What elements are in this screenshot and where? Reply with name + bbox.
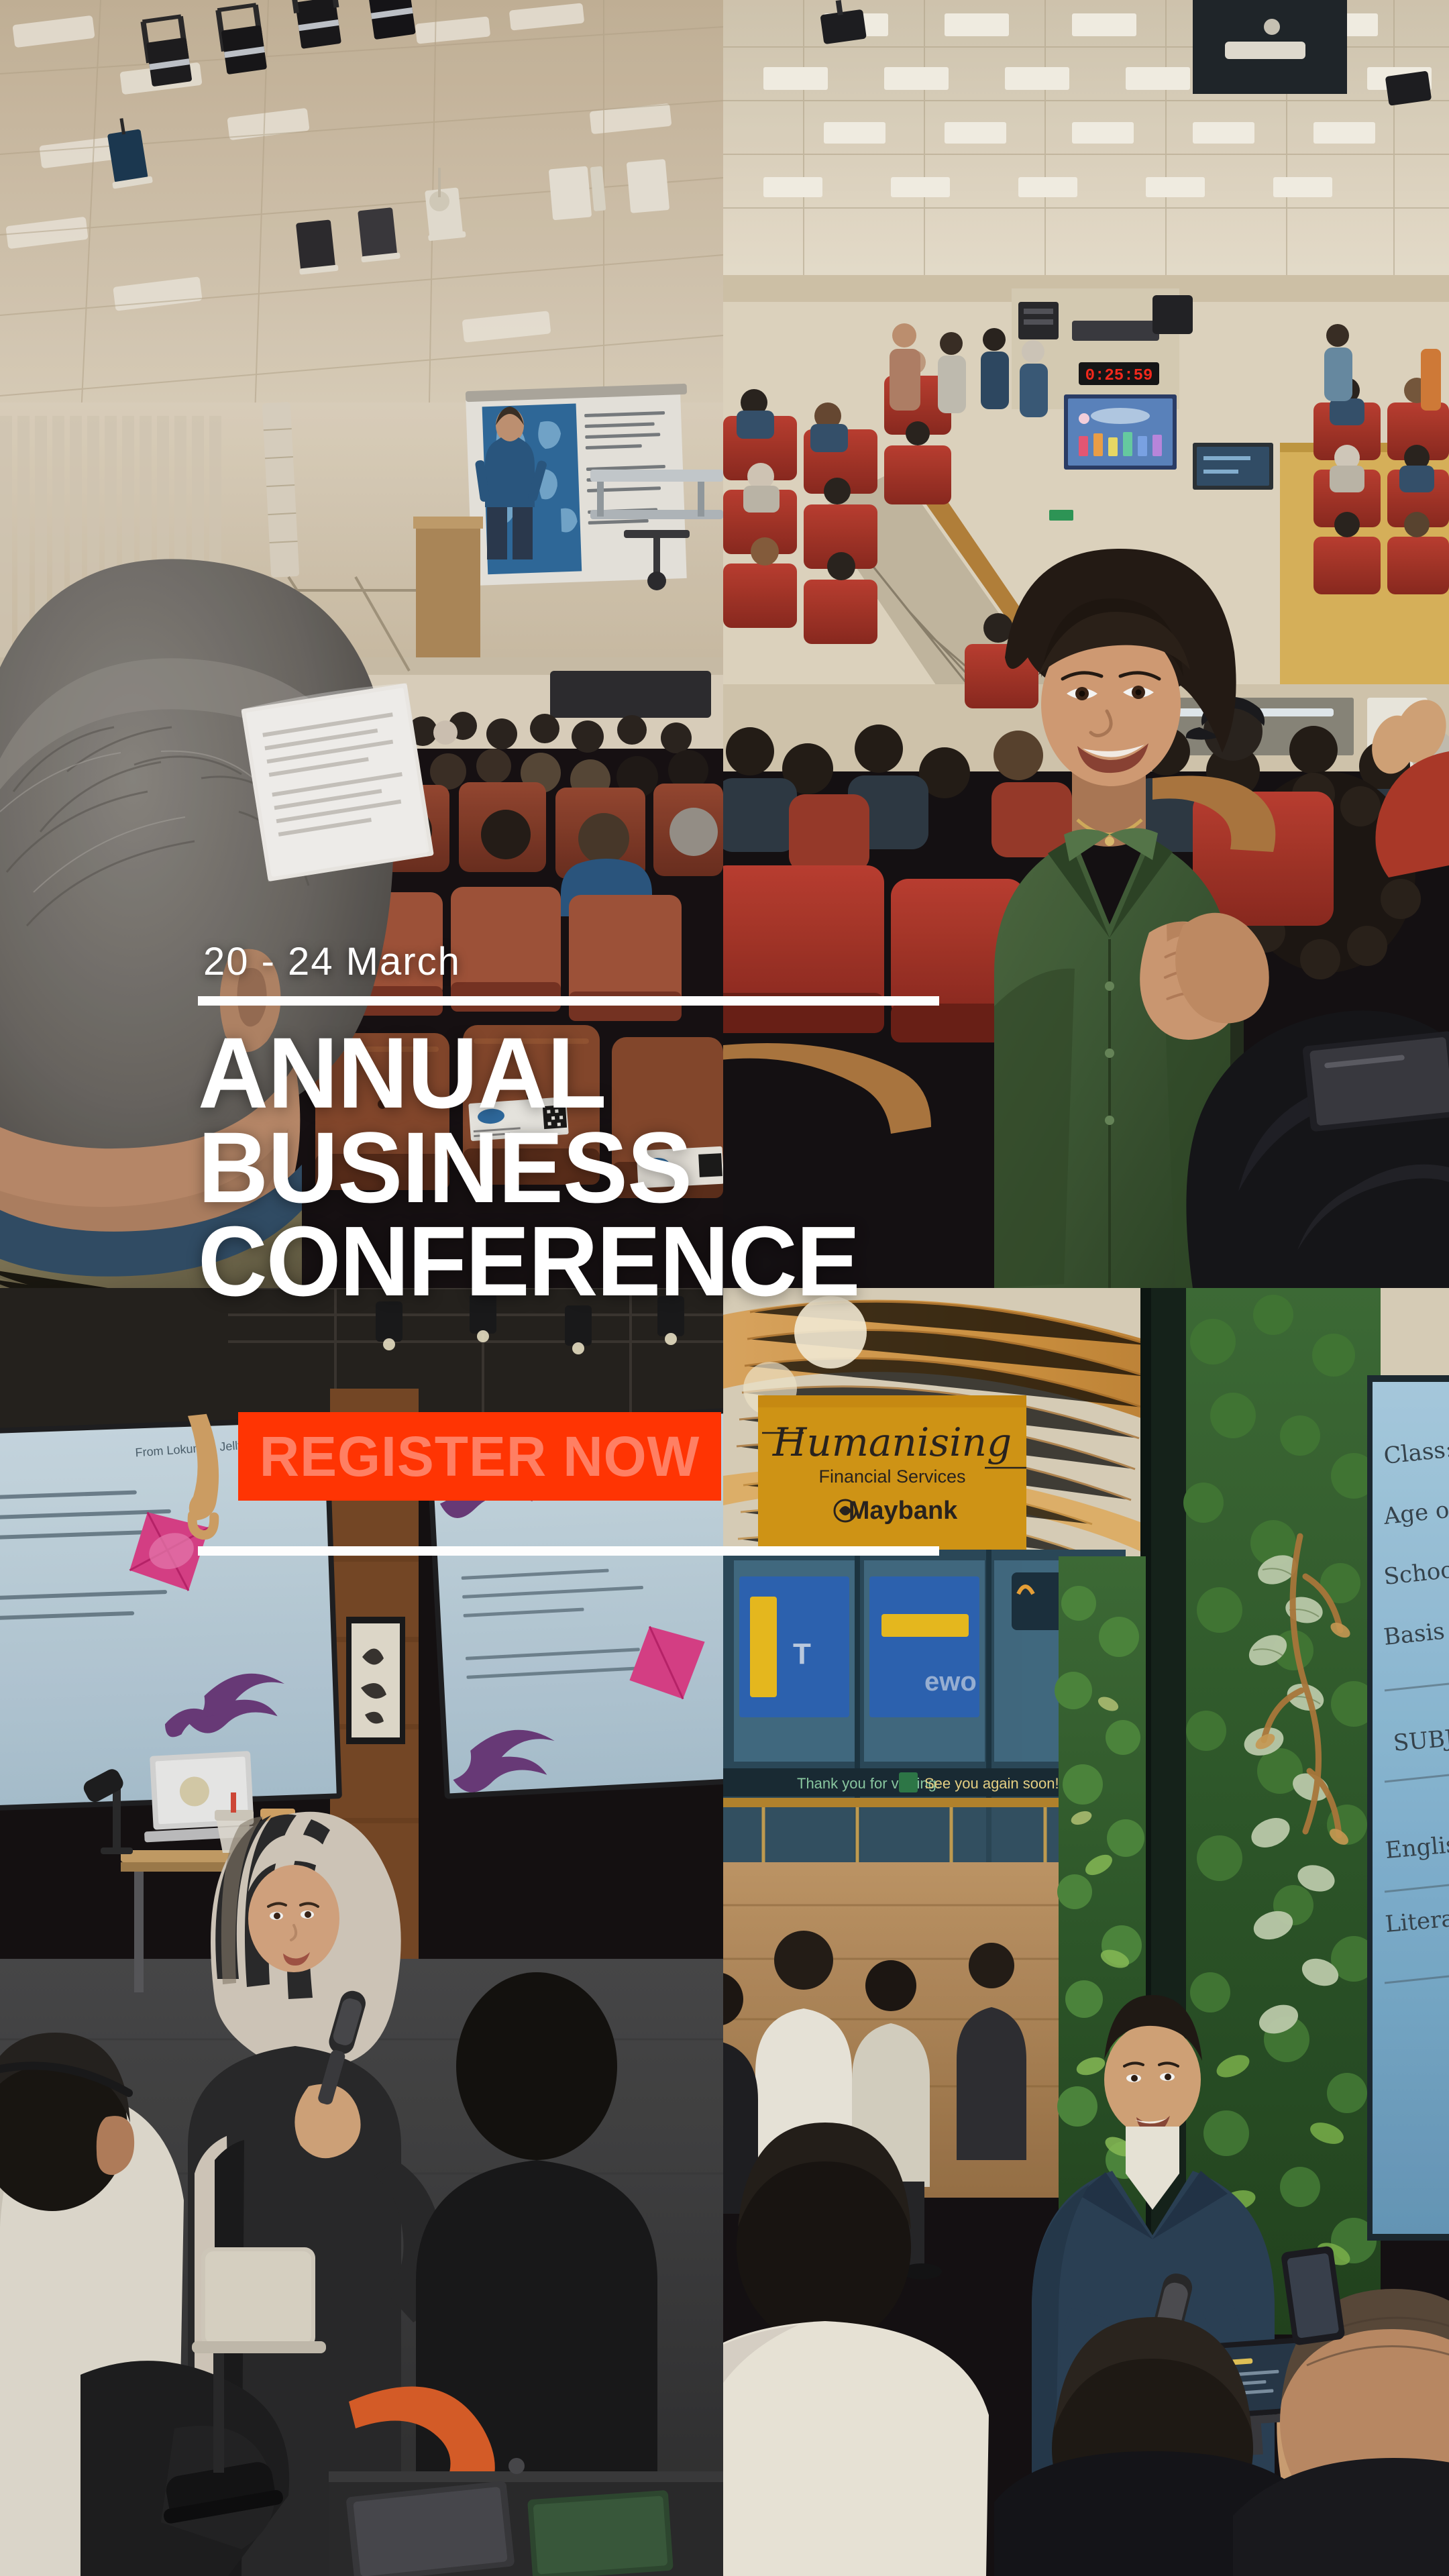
photo-bottom-right: Humanising Financial Services Maybank <box>723 1288 1449 2576</box>
poster-title-line-1: ANNUAL <box>198 1026 926 1120</box>
divider-rule-top <box>198 996 939 1006</box>
register-now-button[interactable]: REGISTER NOW <box>238 1412 721 1501</box>
poster-title-line-3: CONFERENCE <box>198 1215 926 1308</box>
register-now-label: REGISTER NOW <box>260 1428 700 1485</box>
poster-root: 0:25:59 <box>0 0 1449 2576</box>
divider-rule-bottom <box>198 1546 939 1556</box>
event-dates: 20 - 24 March <box>203 939 949 984</box>
poster-text-overlay: 20 - 24 March ANNUAL BUSINESS CONFERENCE <box>198 939 949 1308</box>
poster-title-line-2: BUSINESS <box>198 1120 926 1215</box>
